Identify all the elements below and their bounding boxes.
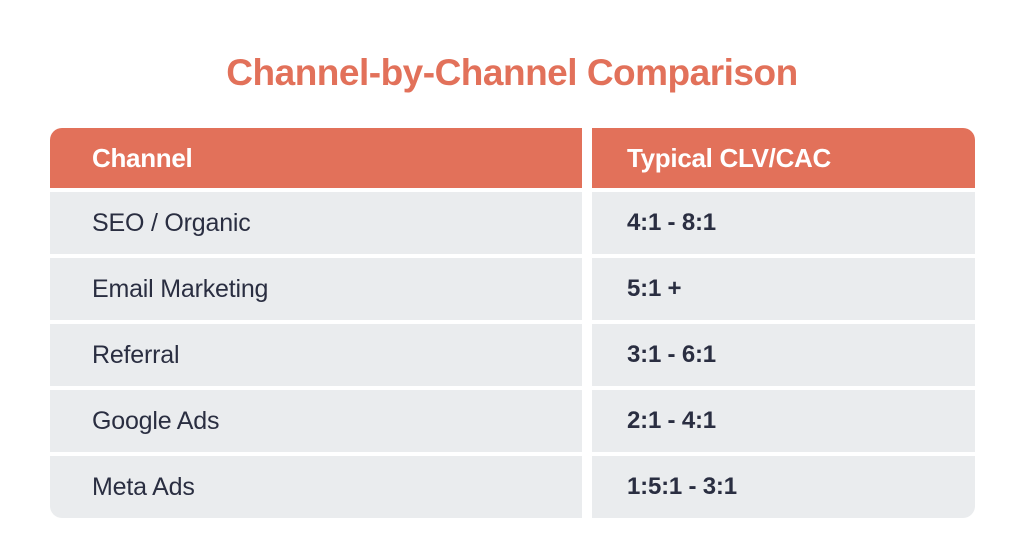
table-row: Referral bbox=[50, 324, 582, 386]
clv-cac-column: Typical CLV/CAC 4:1 - 8:1 5:1 + 3:1 - 6:… bbox=[592, 128, 975, 518]
comparison-table-page: Channel-by-Channel Comparison Channel SE… bbox=[0, 0, 1024, 555]
table-row: 4:1 - 8:1 bbox=[592, 192, 975, 254]
channel-comparison-table: Channel SEO / Organic Email Marketing Re… bbox=[50, 128, 975, 518]
table-row: 1:5:1 - 3:1 bbox=[592, 456, 975, 518]
table-row: 2:1 - 4:1 bbox=[592, 390, 975, 452]
table-row: Google Ads bbox=[50, 390, 582, 452]
table-row: SEO / Organic bbox=[50, 192, 582, 254]
column-header-clv-cac: Typical CLV/CAC bbox=[592, 128, 975, 188]
table-row: 3:1 - 6:1 bbox=[592, 324, 975, 386]
channel-column: Channel SEO / Organic Email Marketing Re… bbox=[50, 128, 582, 518]
table-row: 5:1 + bbox=[592, 258, 975, 320]
table-row: Meta Ads bbox=[50, 456, 582, 518]
page-title: Channel-by-Channel Comparison bbox=[0, 50, 1024, 96]
column-header-channel: Channel bbox=[50, 128, 582, 188]
table-row: Email Marketing bbox=[50, 258, 582, 320]
